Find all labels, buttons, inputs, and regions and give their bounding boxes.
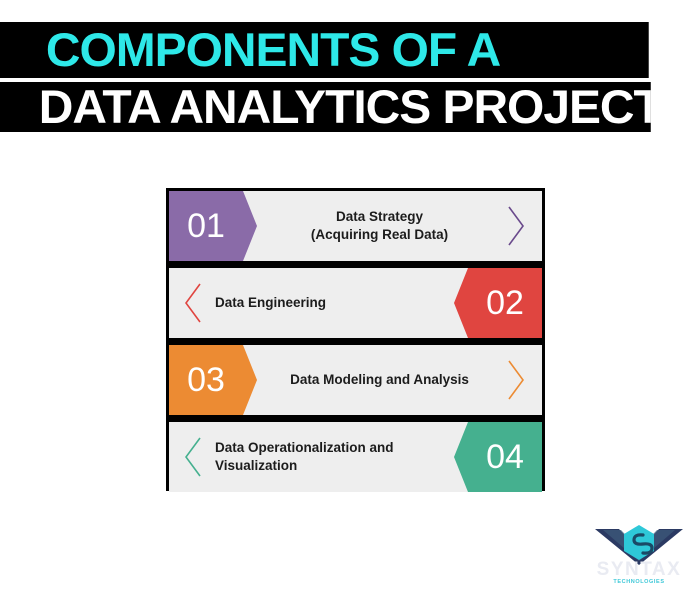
step-row-02[interactable]: 02 Data Engineering xyxy=(169,268,542,338)
step-label-04: Data Operationalization and Visualizatio… xyxy=(215,422,442,492)
step-number-03: 03 xyxy=(187,361,225,400)
step-number-badge-01: 01 xyxy=(169,191,257,261)
step-label-01: Data Strategy (Acquiring Real Data) xyxy=(269,191,490,261)
chevron-left-icon-04 xyxy=(183,435,203,479)
step-label-03-line-1: Data Modeling and Analysis xyxy=(290,371,469,389)
logo-wordmark: SYNTAX xyxy=(589,559,689,581)
chevron-right-icon-01 xyxy=(506,204,526,248)
step-row-04[interactable]: 04 Data Operationalization and Visualiza… xyxy=(169,422,542,492)
step-label-04-line-2: Visualization xyxy=(215,457,394,475)
logo-subtext: TECHNOLOGIES xyxy=(589,579,689,585)
page-title-line-2: DATA ANALYTICS PROJECT xyxy=(0,82,651,132)
step-number-badge-02: 02 xyxy=(454,268,542,338)
step-number-badge-04: 04 xyxy=(454,422,542,492)
chevron-right-icon-03 xyxy=(506,358,526,402)
step-label-01-line-2: (Acquiring Real Data) xyxy=(311,226,448,244)
step-number-01: 01 xyxy=(187,207,225,246)
step-label-03: Data Modeling and Analysis xyxy=(269,345,490,415)
step-label-02: Data Engineering xyxy=(215,268,442,338)
syntax-technologies-logo: SYNTAX TECHNOLOGIES xyxy=(589,521,689,593)
step-number-04: 04 xyxy=(486,438,524,477)
step-number-badge-03: 03 xyxy=(169,345,257,415)
page-title-line-1: COMPONENTS OF A xyxy=(0,22,649,78)
step-label-01-line-1: Data Strategy xyxy=(311,208,448,226)
step-row-03[interactable]: 03 Data Modeling and Analysis xyxy=(169,345,542,415)
step-label-02-line-1: Data Engineering xyxy=(215,294,326,312)
step-row-01[interactable]: 01 Data Strategy (Acquiring Real Data) xyxy=(169,191,542,261)
step-label-04-line-1: Data Operationalization and xyxy=(215,439,394,457)
chevron-left-icon-02 xyxy=(183,281,203,325)
step-number-02: 02 xyxy=(486,284,524,323)
components-infographic: 01 Data Strategy (Acquiring Real Data) 0… xyxy=(166,188,545,491)
